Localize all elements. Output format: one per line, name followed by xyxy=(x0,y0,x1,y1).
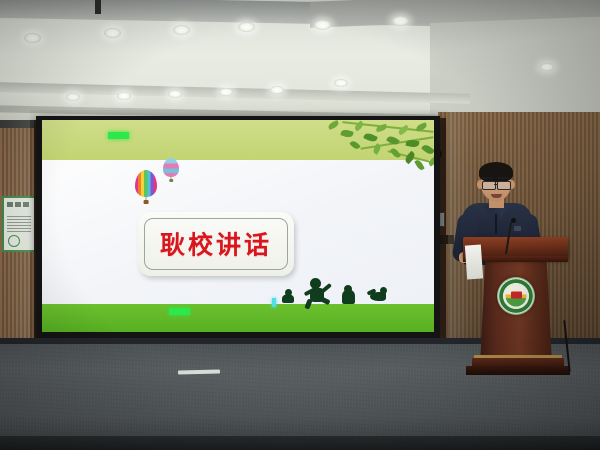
microphone-icon xyxy=(511,218,516,223)
downlight xyxy=(314,20,331,30)
poster-seal-icon xyxy=(8,235,20,247)
presenter-notes xyxy=(465,244,483,279)
slide-title: 耿校讲话 xyxy=(138,225,294,261)
presenter-chest-badge xyxy=(514,226,521,231)
downlight xyxy=(238,22,255,32)
lectern-foot xyxy=(466,366,570,375)
downlight xyxy=(168,90,182,98)
glasses-icon xyxy=(482,181,496,190)
downlight xyxy=(540,63,554,71)
glasses-icon xyxy=(497,181,511,190)
presenter-hair xyxy=(479,162,513,182)
photo-bottom-edge xyxy=(0,436,600,450)
screen-glitch-bottom xyxy=(169,308,190,315)
emblem-flag-icon xyxy=(511,291,522,298)
projection-screen: 耿校讲话 xyxy=(42,120,434,332)
screen-glitch-top xyxy=(108,132,129,139)
downlight xyxy=(173,25,190,35)
ceiling xyxy=(0,0,600,120)
downlight xyxy=(104,28,121,38)
emblem-inner xyxy=(506,286,527,307)
presenter-eyebrow-left xyxy=(482,177,493,179)
presenter-eyebrow-right xyxy=(498,177,509,179)
rainbow-hot-air-balloon xyxy=(135,170,157,204)
glasses-bridge xyxy=(494,184,498,185)
downlight xyxy=(270,86,284,94)
school-emblem xyxy=(497,277,535,315)
screen-glitch-small xyxy=(272,298,276,307)
downlight xyxy=(66,93,80,101)
wall-notice-poster xyxy=(2,196,38,252)
small-hot-air-balloon xyxy=(163,158,179,182)
wall-switch[interactable] xyxy=(440,235,454,244)
downlight xyxy=(334,79,348,87)
downlight xyxy=(24,33,41,43)
slide-bottom-band xyxy=(42,304,434,332)
downlight xyxy=(117,92,131,100)
downlight xyxy=(392,16,409,26)
auditorium-photo: 耿校讲话 xyxy=(0,0,600,450)
downlight xyxy=(219,88,233,96)
slide-title-plaque: 耿校讲话 xyxy=(138,212,294,276)
ceiling-hanger xyxy=(95,0,101,14)
presenter-shirt-placket xyxy=(495,214,497,234)
